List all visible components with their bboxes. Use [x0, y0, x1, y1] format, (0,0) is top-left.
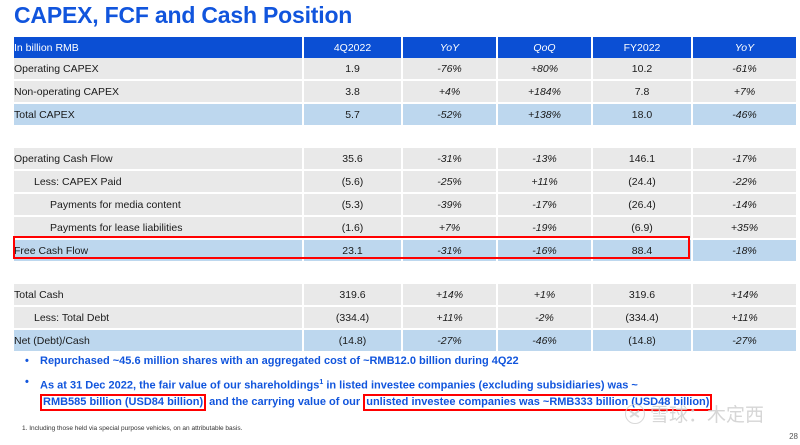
row-value: -31%: [402, 148, 497, 170]
row-value: +11%: [497, 170, 592, 193]
column-header-fy2022: FY2022: [592, 37, 692, 58]
table-row: Total Cash319.6+14%+1%319.6+14%: [14, 284, 796, 306]
row-value: +4%: [402, 80, 497, 103]
column-header-yoy-q: YoY: [402, 37, 497, 58]
row-value: +1%: [497, 284, 592, 306]
row-value: +184%: [497, 80, 592, 103]
row-value: 10.2: [592, 58, 692, 80]
row-value: 88.4: [592, 239, 692, 262]
spacer-cell: [14, 126, 796, 148]
column-header-label: In billion RMB: [14, 37, 303, 58]
row-value: -13%: [497, 148, 592, 170]
row-value: (14.8): [303, 329, 402, 352]
row-value: +7%: [692, 80, 796, 103]
row-label: Total Cash: [14, 284, 303, 306]
row-value: +14%: [692, 284, 796, 306]
row-label: Operating CAPEX: [14, 58, 303, 80]
table-spacer-row: [14, 126, 796, 148]
row-value: -18%: [692, 239, 796, 262]
row-value: 23.1: [303, 239, 402, 262]
row-value: -52%: [402, 103, 497, 126]
row-value: -61%: [692, 58, 796, 80]
row-value: +11%: [692, 306, 796, 329]
row-value: (334.4): [592, 306, 692, 329]
bullet-list: •Repurchased ~45.6 million shares with a…: [22, 354, 790, 417]
table-row: Total CAPEX5.7-52%+138%18.0-46%: [14, 103, 796, 126]
table-row: Operating CAPEX1.9-76%+80%10.2-61%: [14, 58, 796, 80]
row-value: -17%: [497, 193, 592, 216]
row-value: +138%: [497, 103, 592, 126]
table-row: Non-operating CAPEX3.8+4%+184%7.8+7%: [14, 80, 796, 103]
column-header-yoy-fy: YoY: [692, 37, 796, 58]
table-row: Less: Total Debt(334.4)+11%-2%(334.4)+11…: [14, 306, 796, 329]
row-label: Net (Debt)/Cash: [14, 329, 303, 352]
row-value: -27%: [692, 329, 796, 352]
footnote: 1. Including those held via special purp…: [22, 425, 242, 432]
table-body: Operating CAPEX1.9-76%+80%10.2-61%Non-op…: [14, 58, 796, 352]
bullet-item: •As at 31 Dec 2022, the fair value of ou…: [22, 375, 790, 411]
bullet-text: As at 31 Dec 2022, the fair value of our…: [40, 380, 319, 392]
row-value: -25%: [402, 170, 497, 193]
row-value: -39%: [402, 193, 497, 216]
table-row: Payments for lease liabilities(1.6)+7%-1…: [14, 216, 796, 239]
row-value: 1.9: [303, 58, 402, 80]
row-value: -19%: [497, 216, 592, 239]
row-value: -16%: [497, 239, 592, 262]
column-header-4q2022: 4Q2022: [303, 37, 402, 58]
row-label: Free Cash Flow: [14, 239, 303, 262]
row-value: (5.6): [303, 170, 402, 193]
bullet-item: •Repurchased ~45.6 million shares with a…: [22, 354, 790, 369]
highlighted-text: unlisted investee companies was ~RMB333 …: [363, 394, 712, 411]
table-row: Less: CAPEX Paid(5.6)-25%+11%(24.4)-22%: [14, 170, 796, 193]
bullet-dot-icon: •: [25, 354, 29, 369]
row-value: -46%: [692, 103, 796, 126]
row-value: -14%: [692, 193, 796, 216]
row-value: -2%: [497, 306, 592, 329]
row-value: -46%: [497, 329, 592, 352]
row-value: (14.8): [592, 329, 692, 352]
row-value: (1.6): [303, 216, 402, 239]
row-value: 7.8: [592, 80, 692, 103]
table-row: Operating Cash Flow35.6-31%-13%146.1-17%: [14, 148, 796, 170]
row-label: Less: Total Debt: [14, 306, 303, 329]
table-row: Free Cash Flow23.1-31%-16%88.4-18%: [14, 239, 796, 262]
highlighted-text: RMB585 billion (USD84 billion): [40, 394, 206, 411]
table-row: Net (Debt)/Cash(14.8)-27%-46%(14.8)-27%: [14, 329, 796, 352]
row-value: (334.4): [303, 306, 402, 329]
row-value: -76%: [402, 58, 497, 80]
row-value: 5.7: [303, 103, 402, 126]
page-number: 28: [789, 432, 798, 441]
row-label: Total CAPEX: [14, 103, 303, 126]
table-spacer-row: [14, 262, 796, 284]
column-header-qoq: QoQ: [497, 37, 592, 58]
row-value: +80%: [497, 58, 592, 80]
bullet-text: and the carrying value of our: [206, 396, 363, 408]
spacer-cell: [14, 262, 796, 284]
row-value: +7%: [402, 216, 497, 239]
table-row: Payments for media content(5.3)-39%-17%(…: [14, 193, 796, 216]
page-title: CAPEX, FCF and Cash Position: [14, 2, 352, 29]
bullet-text: Repurchased ~45.6 million shares with an…: [40, 355, 519, 367]
bullet-text: in listed investee companies (excluding …: [323, 380, 638, 392]
row-label: Payments for lease liabilities: [14, 216, 303, 239]
row-value: 319.6: [303, 284, 402, 306]
row-value: (26.4): [592, 193, 692, 216]
row-value: 18.0: [592, 103, 692, 126]
row-value: +14%: [402, 284, 497, 306]
row-value: -31%: [402, 239, 497, 262]
row-value: -22%: [692, 170, 796, 193]
row-label: Operating Cash Flow: [14, 148, 303, 170]
table-header-row: In billion RMB 4Q2022 YoY QoQ FY2022 YoY: [14, 37, 796, 58]
row-label: Less: CAPEX Paid: [14, 170, 303, 193]
table-header: In billion RMB 4Q2022 YoY QoQ FY2022 YoY: [14, 37, 796, 58]
row-value: +35%: [692, 216, 796, 239]
row-value: -17%: [692, 148, 796, 170]
row-label: Payments for media content: [14, 193, 303, 216]
row-value: 146.1: [592, 148, 692, 170]
row-value: -27%: [402, 329, 497, 352]
capex-fcf-cash-table: In billion RMB 4Q2022 YoY QoQ FY2022 YoY…: [14, 37, 796, 353]
row-value: +11%: [402, 306, 497, 329]
row-value: (5.3): [303, 193, 402, 216]
row-label: Non-operating CAPEX: [14, 80, 303, 103]
bullet-dot-icon: •: [25, 375, 29, 390]
row-value: 319.6: [592, 284, 692, 306]
row-value: (24.4): [592, 170, 692, 193]
row-value: 3.8: [303, 80, 402, 103]
row-value: (6.9): [592, 216, 692, 239]
row-value: 35.6: [303, 148, 402, 170]
